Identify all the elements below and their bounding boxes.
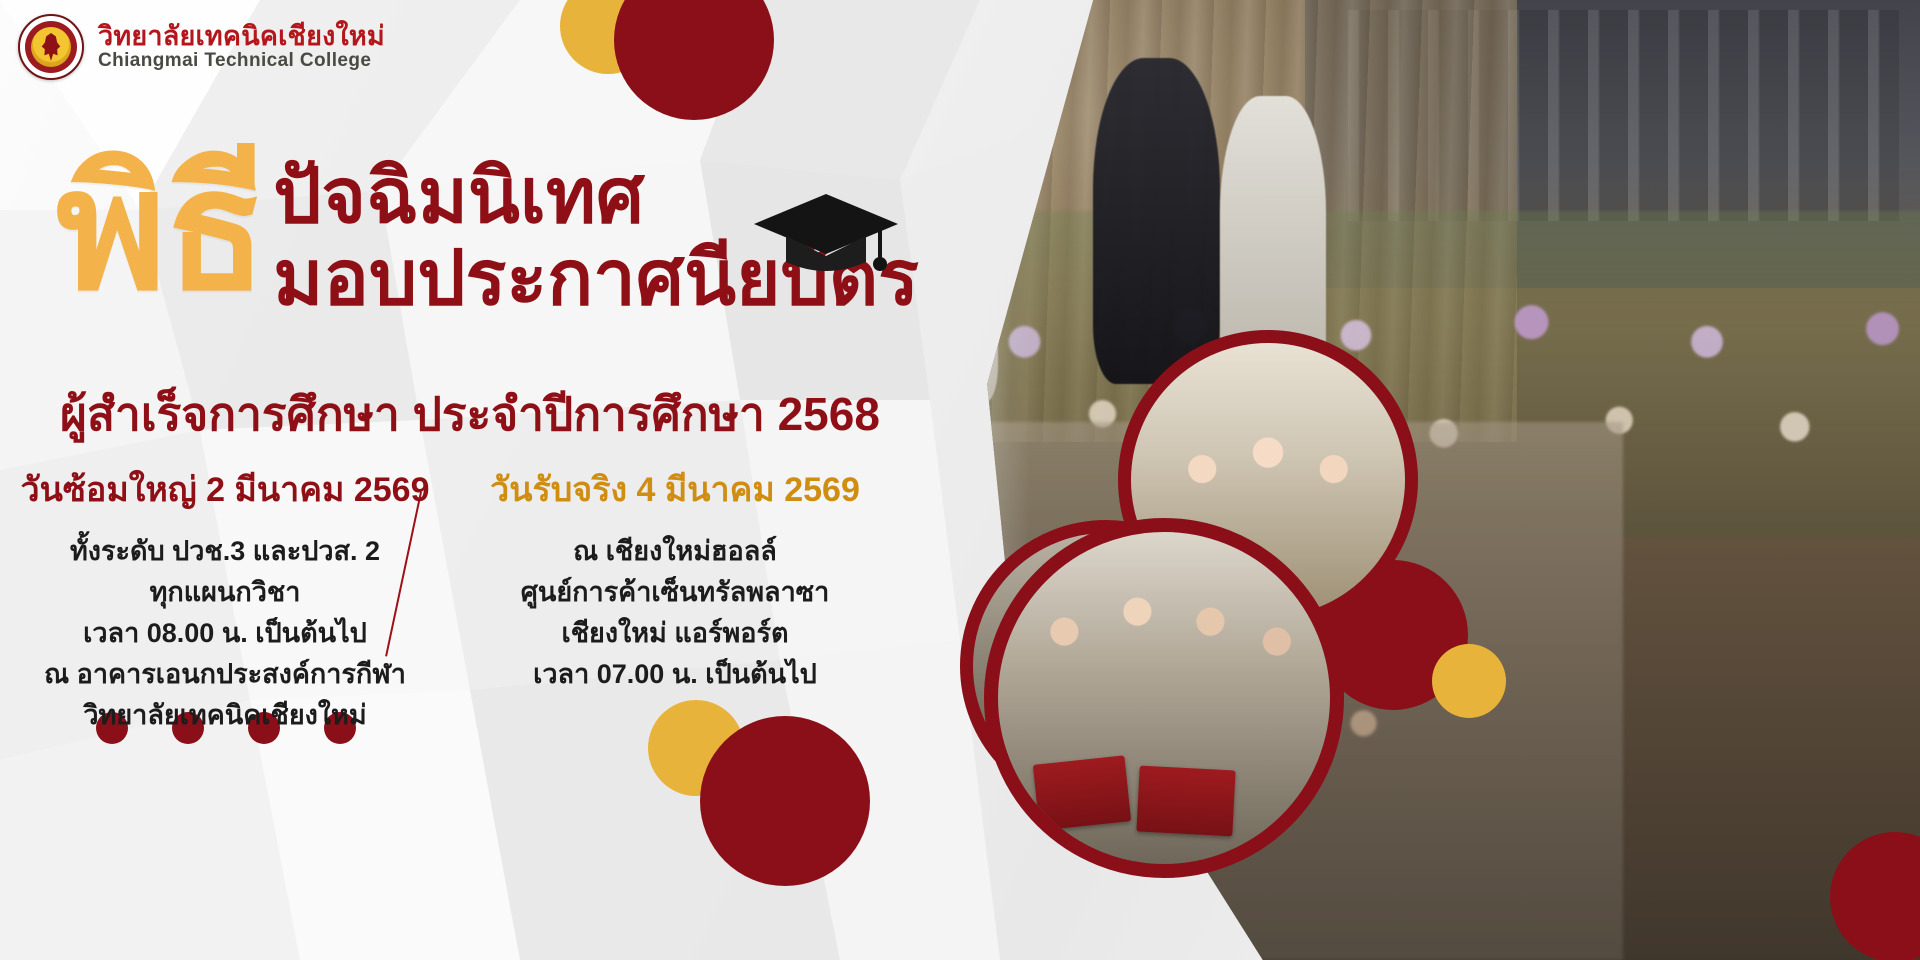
actual-detail-line: ณ เชียงใหม่ฮอลล์ <box>462 531 888 572</box>
certificate-folder <box>1136 766 1235 837</box>
college-seal-icon <box>18 14 84 80</box>
decor-circle-gold-right <box>1432 644 1506 718</box>
decor-circle-red-bottom <box>700 716 870 886</box>
event-column-rehearsal: วันซ้อมใหญ่ 2 มีนาคม 2569 ทั้งระดับ ปวช.… <box>0 470 450 736</box>
brand-name-english: Chiangmai Technical College <box>98 51 385 72</box>
actual-ceremony-details: ณ เชียงใหม่ฮอลล์ ศูนย์การค้าเซ็นทรัลพลาซ… <box>462 531 888 695</box>
rehearsal-detail-line: เวลา 08.00 น. เป็นต้นไป <box>12 613 438 654</box>
actual-detail-line: เชียงใหม่ แอร์พอร์ต <box>462 613 888 654</box>
actual-detail-line: ศูนย์การค้าเซ็นทรัลพลาซา <box>462 572 888 613</box>
event-column-actual: วันรับจริง 4 มีนาคม 2569 ณ เชียงใหม่ฮอลล… <box>450 470 900 736</box>
circle-photo-graduates-certificates <box>984 518 1344 878</box>
headline-ceremony-word: พิธี <box>56 158 265 302</box>
event-details-columns: วันซ้อมใหญ่ 2 มีนาคม 2569 ทั้งระดับ ปวช.… <box>0 470 900 736</box>
graduation-ceremony-banner: วิทยาลัยเทคนิคเชียงใหม่ Chiangmai Techni… <box>0 0 1920 960</box>
rehearsal-detail-line: วิทยาลัยเทคนิคเชียงใหม่ <box>12 695 438 736</box>
actual-detail-line: เวลา 07.00 น. เป็นต้นไป <box>462 654 888 695</box>
brand-text-block: วิทยาลัยเทคนิคเชียงใหม่ Chiangmai Techni… <box>98 22 385 71</box>
rehearsal-detail-line: ณ อาคารเอนกประสงค์การกีฬา <box>12 654 438 695</box>
actual-ceremony-heading: วันรับจริง 4 มีนาคม 2569 <box>462 470 888 511</box>
brand-name-thai: วิทยาลัยเทคนิคเชียงใหม่ <box>98 22 385 50</box>
college-branding-header: วิทยาลัยเทคนิคเชียงใหม่ Chiangmai Techni… <box>18 14 385 80</box>
rehearsal-detail-line: ทุกแผนกวิชา <box>12 572 438 613</box>
certificate-folder <box>1033 755 1131 830</box>
headline-subtitle: ผู้สำเร็จการศึกษา ประจำปีการศึกษา 2568 <box>60 378 880 451</box>
rehearsal-details: ทั้งระดับ ปวช.3 และปวส. 2 ทุกแผนกวิชา เว… <box>12 531 438 736</box>
rehearsal-detail-line: ทั้งระดับ ปวช.3 และปวส. 2 <box>12 531 438 572</box>
rehearsal-heading: วันซ้อมใหญ่ 2 มีนาคม 2569 <box>12 470 438 511</box>
graduation-cap-icon <box>752 190 900 286</box>
